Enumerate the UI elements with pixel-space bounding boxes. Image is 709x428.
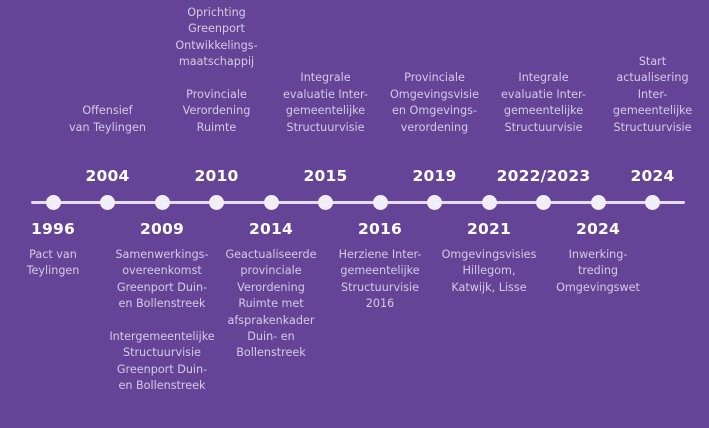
event-text-block: Samenwerkings-overeenkomstGreenport Duin… [104, 247, 220, 313]
event-text-line: Intergemeentelijke [104, 329, 220, 345]
timeline-dot [46, 195, 61, 210]
event-text-line: Structuurvisie [268, 120, 384, 136]
timeline-infographic: 20042010201520192022/2023202419962009201… [0, 0, 709, 428]
timeline-dot [427, 195, 442, 210]
event-text-line: Teylingen [0, 263, 111, 279]
event-text-block: Offensiefvan Teylingen [50, 103, 166, 136]
event-text-line: maatschappij [159, 54, 275, 70]
event-text-line: Bollenstreek [213, 345, 329, 361]
event-text-line: Provinciale [377, 70, 493, 86]
event-text-line: Omgevingsvisie [377, 87, 493, 103]
event-label-2015: Integraleevaluatie Inter-gemeentelijkeSt… [268, 70, 384, 136]
event-text-line: Structuurvisie [322, 280, 438, 296]
event-text-line: Katwijk, Lisse [431, 280, 547, 296]
event-text-line: Structuurvisie [595, 120, 709, 136]
event-text-block: GeactualiseerdeprovincialeVerordeningRui… [213, 247, 329, 362]
timeline-dot [482, 195, 497, 210]
event-text-line: van Teylingen [50, 120, 166, 136]
event-text-block: Pact vanTeylingen [0, 247, 111, 280]
timeline-dot [209, 195, 224, 210]
event-text-line: afsprakenkader [213, 313, 329, 329]
event-text-line: Provinciale [159, 87, 275, 103]
event-text-line: provinciale [213, 263, 329, 279]
event-label-2016: Herziene Inter-gemeentelijkeStructuurvis… [322, 247, 438, 313]
event-text-line: Omgevingswet [540, 280, 656, 296]
event-label-2019: ProvincialeOmgevingsvisieen Omgevings-ve… [377, 70, 493, 136]
event-text-line: Duin- en [213, 329, 329, 345]
event-text-block: Herziene Inter-gemeentelijkeStructuurvis… [322, 247, 438, 313]
event-text-line: Ruimte [159, 120, 275, 136]
event-text-line: 2016 [322, 296, 438, 312]
event-label-2024: Inwerking-tredingOmgevingswet [540, 247, 656, 296]
event-label-2022-2023: Integraleevaluatie Inter-gemeentelijkeSt… [486, 70, 602, 136]
year-label-2024: 2024 [576, 220, 620, 238]
event-text-line: Start [595, 54, 709, 70]
event-label-2014: GeactualiseerdeprovincialeVerordeningRui… [213, 247, 329, 362]
event-text-line: en Bollenstreek [104, 378, 220, 394]
year-label-2015: 2015 [304, 167, 348, 185]
event-text-line: Oprichting [159, 5, 275, 21]
event-label-2024: StartactualiseringInter-gemeentelijkeStr… [595, 54, 709, 136]
event-text-line: gemeentelijke [268, 103, 384, 119]
year-label-2014: 2014 [249, 220, 293, 238]
event-text-block: IntergemeentelijkeStructuurvisieGreenpor… [104, 329, 220, 395]
event-text-block: Inwerking-tredingOmgevingswet [540, 247, 656, 296]
event-text-line: Pact van [0, 247, 111, 263]
year-label-1996: 1996 [31, 220, 75, 238]
timeline-dot [264, 195, 279, 210]
event-label-2021: OmgevingsvisiesHillegom,Katwijk, Lisse [431, 247, 547, 296]
event-text-block: ProvincialeOmgevingsvisieen Omgevings-ve… [377, 70, 493, 136]
event-text-line: evaluatie Inter- [268, 87, 384, 103]
event-text-block: ProvincialeVerordeningRuimte [159, 87, 275, 136]
year-label-2016: 2016 [358, 220, 402, 238]
event-text-block: StartactualiseringInter-gemeentelijkeStr… [595, 54, 709, 136]
event-text-block: Integraleevaluatie Inter-gemeentelijkeSt… [268, 70, 384, 136]
year-label-2019: 2019 [413, 167, 457, 185]
event-label-2009: Samenwerkings-overeenkomstGreenport Duin… [104, 247, 220, 395]
event-text-line: gemeentelijke [486, 103, 602, 119]
event-text-line: Ontwikkelings- [159, 38, 275, 54]
event-text-line: Offensief [50, 103, 166, 119]
year-label-2022-2023: 2022/2023 [497, 167, 591, 185]
event-text-block: Integraleevaluatie Inter-gemeentelijkeSt… [486, 70, 602, 136]
event-text-line: Integrale [268, 70, 384, 86]
event-text-line: overeenkomst [104, 263, 220, 279]
event-text-line: Inwerking- [540, 247, 656, 263]
event-label-2004: Offensiefvan Teylingen [50, 103, 166, 136]
year-label-2021: 2021 [467, 220, 511, 238]
event-text-line: gemeentelijke [322, 263, 438, 279]
event-text-line: Hillegom, [431, 263, 547, 279]
timeline-dot [645, 195, 660, 210]
event-text-line: Structuurvisie [104, 345, 220, 361]
timeline-dot [591, 195, 606, 210]
event-text-line: Greenport [159, 21, 275, 37]
event-text-line: Integrale [486, 70, 602, 86]
event-text-line: en Omgevings- [377, 103, 493, 119]
event-text-line: Verordening [213, 280, 329, 296]
timeline-dot [155, 195, 170, 210]
event-text-line: treding [540, 263, 656, 279]
event-text-line: Inter- [595, 87, 709, 103]
event-text-line: Verordening [159, 103, 275, 119]
event-text-line: Ruimte met [213, 296, 329, 312]
event-text-line: Samenwerkings- [104, 247, 220, 263]
event-text-line: Structuurvisie [486, 120, 602, 136]
timeline-dot [373, 195, 388, 210]
year-label-2024: 2024 [631, 167, 675, 185]
event-text-line: Greenport Duin- [104, 362, 220, 378]
event-text-line: en Bollenstreek [104, 296, 220, 312]
event-label-1996: Pact vanTeylingen [0, 247, 111, 280]
event-text-line: evaluatie Inter- [486, 87, 602, 103]
event-text-line: verordening [377, 120, 493, 136]
year-label-2010: 2010 [195, 167, 239, 185]
event-text-block: OmgevingsvisiesHillegom,Katwijk, Lisse [431, 247, 547, 296]
event-text-line: Greenport Duin- [104, 280, 220, 296]
year-label-2004: 2004 [86, 167, 130, 185]
event-text-line: Omgevingsvisies [431, 247, 547, 263]
event-text-line: Herziene Inter- [322, 247, 438, 263]
event-text-line: gemeentelijke [595, 103, 709, 119]
event-text-line: actualisering [595, 70, 709, 86]
timeline-dot [100, 195, 115, 210]
event-label-2010: OprichtingGreenportOntwikkelings-maatsch… [159, 5, 275, 136]
timeline-dot [318, 195, 333, 210]
event-text-line: Geactualiseerde [213, 247, 329, 263]
year-label-2009: 2009 [140, 220, 184, 238]
timeline-axis-line [31, 201, 685, 204]
event-text-block: OprichtingGreenportOntwikkelings-maatsch… [159, 5, 275, 71]
timeline-dot [536, 195, 551, 210]
